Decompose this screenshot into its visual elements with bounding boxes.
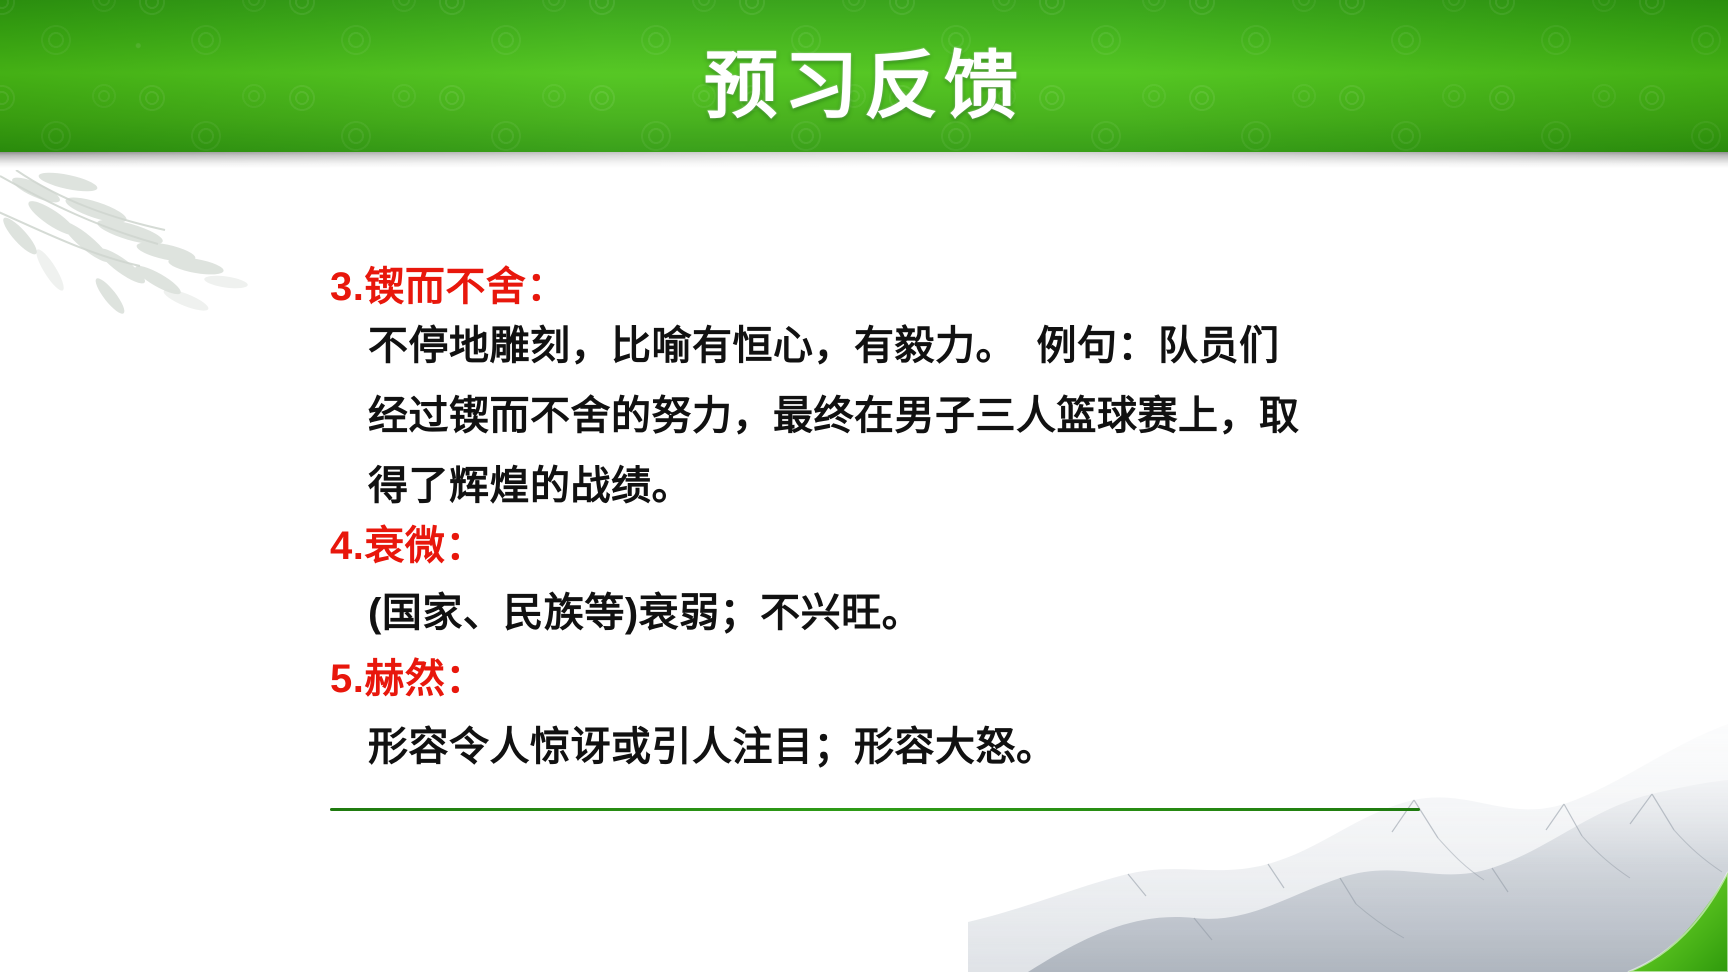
vocab-entry: 3.锲而不舍： — [0, 264, 1728, 310]
definition-text: (国家、民族等)衰弱；不兴旺。 — [368, 591, 922, 635]
vocab-definition-line: 得了辉煌的战绩。 — [0, 463, 1728, 509]
slide-canvas: 预习反馈 — [0, 0, 1728, 972]
vocab-entry: 5.赫然： — [0, 656, 1728, 702]
header-divider-highlight — [0, 152, 1728, 168]
vocab-definition-line: (国家、民族等)衰弱；不兴旺。 — [0, 590, 1728, 636]
vocab-definition-line: 经过锲而不舍的努力，最终在男子三人篮球赛上，取 — [0, 393, 1728, 439]
vocab-term: 3.锲而不舍： — [330, 265, 567, 309]
definition-text: 经过锲而不舍的努力，最终在男子三人篮球赛上，取 — [368, 394, 1300, 438]
slide-header-banner: 预习反馈 — [0, 0, 1728, 152]
definition-text: 形容令人惊讶或引人注目；形容大怒。 — [368, 725, 1057, 769]
vocab-definition-line: 不停地雕刻，比喻有恒心，有毅力。 例句：队员们 — [0, 323, 1728, 369]
content-area: 3.锲而不舍： 不停地雕刻，比喻有恒心，有毅力。 例句：队员们 经过锲而不舍的努… — [0, 168, 1728, 808]
green-page-curl-corner — [1608, 862, 1728, 972]
bottom-divider-rule — [330, 808, 1420, 811]
vocab-entry: 4.衰微： — [0, 523, 1728, 569]
definition-text: 不停地雕刻，比喻有恒心，有毅力。 例句：队员们 — [368, 324, 1280, 368]
definition-text: 得了辉煌的战绩。 — [368, 464, 692, 508]
page-title: 预习反馈 — [0, 46, 1728, 126]
vocab-term: 5.赫然： — [330, 657, 486, 701]
vocab-definition-line: 形容令人惊讶或引人注目；形容大怒。 — [0, 724, 1728, 770]
vocab-term: 4.衰微： — [330, 524, 486, 568]
